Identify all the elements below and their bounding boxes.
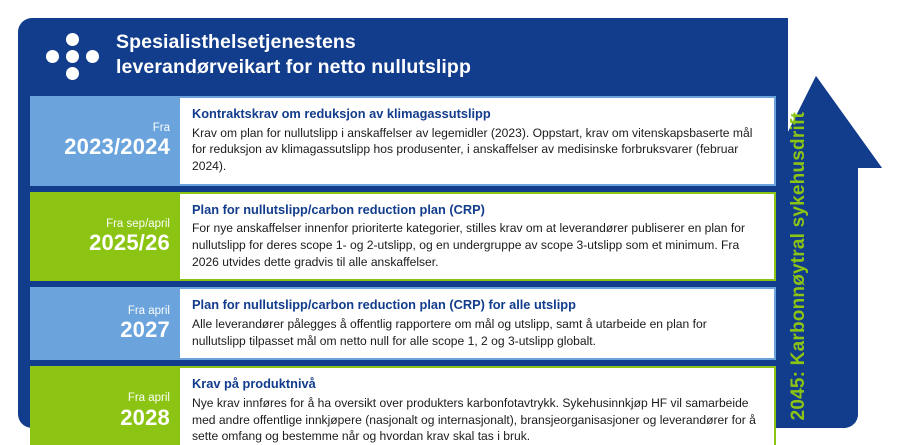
- timeline-row-date: Fra 2023/2024: [32, 98, 180, 184]
- page-title: Spesialisthelsetjenestens leverandørveik…: [116, 30, 471, 80]
- timeline-row-text: Alle leverandører pålegges å offentlig r…: [192, 316, 762, 349]
- date-value: 2027: [120, 318, 170, 343]
- goal-label: 2045: Karbonnøytral sykehusdrift: [782, 30, 816, 420]
- timeline-row[interactable]: Fra april 2027 Plan for nullutslipp/carb…: [30, 287, 776, 360]
- timeline-row-body: Plan for nullutslipp/carbon reduction pl…: [180, 289, 774, 358]
- date-prefix: Fra: [153, 122, 170, 135]
- timeline-row-heading: Plan for nullutslipp/carbon reduction pl…: [192, 297, 762, 314]
- timeline-row-text: Nye krav innføres for å ha oversikt over…: [192, 395, 762, 445]
- timeline-row-heading: Krav på produktnivå: [192, 376, 762, 393]
- page-title-line-1: Spesialisthelsetjenestens: [116, 31, 356, 53]
- timeline-row[interactable]: Fra april 2028 Krav på produktnivå Nye k…: [30, 366, 776, 445]
- timeline-row-body: Kontraktskrav om reduksjon av klimagassu…: [180, 98, 774, 184]
- timeline-row-text: For nye anskaffelser innenfor prioritert…: [192, 220, 762, 270]
- timeline-row-date: Fra april 2027: [32, 289, 180, 358]
- date-prefix: Fra april: [128, 392, 170, 405]
- date-prefix: Fra sep/april: [106, 218, 170, 231]
- timeline-rows: Fra 2023/2024 Kontraktskrav om reduksjon…: [30, 96, 776, 445]
- timeline-row[interactable]: Fra 2023/2024 Kontraktskrav om reduksjon…: [30, 96, 776, 186]
- timeline-row-date: Fra april 2028: [32, 368, 180, 445]
- timeline-row-body: Krav på produktnivå Nye krav innføres fo…: [180, 368, 774, 445]
- goal-label-text: 2045: Karbonnøytral sykehusdrift: [788, 112, 810, 420]
- header: Spesialisthelsetjenestens leverandørveik…: [18, 18, 788, 92]
- five-dot-cross-icon: [44, 31, 102, 79]
- timeline-row-heading: Kontraktskrav om reduksjon av klimagassu…: [192, 106, 762, 123]
- infographic-canvas: Spesialisthelsetjenestens leverandørveik…: [0, 0, 900, 445]
- timeline-row-body: Plan for nullutslipp/carbon reduction pl…: [180, 194, 774, 280]
- page-title-line-2: leverandørveikart for netto nullutslipp: [116, 55, 471, 80]
- timeline-row-heading: Plan for nullutslipp/carbon reduction pl…: [192, 202, 762, 219]
- date-prefix: Fra april: [128, 305, 170, 318]
- date-value: 2023/2024: [64, 135, 170, 160]
- timeline-row-date: Fra sep/april 2025/26: [32, 194, 180, 280]
- date-value: 2025/26: [89, 231, 170, 256]
- timeline-row[interactable]: Fra sep/april 2025/26 Plan for nullutsli…: [30, 192, 776, 282]
- timeline-row-text: Krav om plan for nullutslipp i anskaffel…: [192, 125, 762, 175]
- date-value: 2028: [120, 406, 170, 431]
